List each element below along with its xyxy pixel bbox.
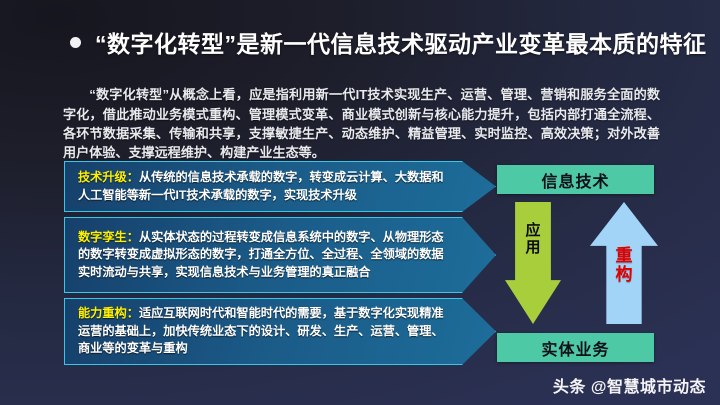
arrow-down-icon: 应用	[505, 202, 561, 324]
chevron-panel-technology-upgrade[interactable]: 技术升级：从传统的信息技术承载的数字，转变成云计算、大数据和人工智能等新一代IT…	[64, 161, 496, 212]
footer-brand-label: 头条	[553, 373, 586, 397]
panel-content: 技术升级：从传统的信息技术承载的数字，转变成云计算、大数据和人工智能等新一代IT…	[65, 164, 495, 209]
slide-title-row: “数字化转型”是新一代信息技术驱动产业变革最本质的特征	[0, 24, 720, 60]
arrow-up-label: 重构	[615, 246, 633, 284]
panel-separator: ：	[127, 230, 139, 244]
panel-separator: ：	[127, 170, 139, 184]
panel-content: 数字孪生：从实体状态的过程转变成信息系统中的数字、从物理形态的数字转变成虚拟形态…	[65, 224, 495, 286]
footer-handle-label: @智慧城市动态	[591, 373, 706, 397]
panel-content: 能力重构：适应互联网时代和智能时代的需要，基于数字化实现精准运营的基础上，加快传…	[65, 300, 495, 362]
panel-key-label: 技术升级	[78, 170, 127, 184]
panel-separator: ：	[127, 306, 139, 320]
intro-paragraph: “数字化转型”从概念上看，应是指利用新一代IT技术实现生产、运营、管理、营销和服…	[63, 85, 660, 163]
arrow-up-icon: 重构	[590, 202, 658, 324]
chevron-panel-capability-reconstruction[interactable]: 能力重构：适应互联网时代和智能时代的需要，基于数字化实现精准运营的基础上，加快传…	[64, 298, 496, 365]
footer-watermark: 头条 @智慧城市动态	[553, 373, 706, 397]
cycle-box-information-technology[interactable]: 信息技术	[497, 165, 654, 194]
slide-canvas: “数字化转型”是新一代信息技术驱动产业变革最本质的特征 “数字化转型”从概念上看…	[0, 0, 720, 405]
page-title: “数字化转型”是新一代信息技术驱动产业变革最本质的特征	[95, 25, 707, 59]
panel-key-label: 数字孪生	[78, 230, 127, 244]
chevron-panel-digital-twin[interactable]: 数字孪生：从实体状态的过程转变成信息系统中的数字、从物理形态的数字转变成虚拟形态…	[64, 217, 496, 293]
panel-key-label: 能力重构	[78, 306, 127, 320]
bullet-dot-icon	[70, 37, 81, 48]
arrow-down-label: 应用	[525, 222, 541, 256]
cycle-box-physical-business[interactable]: 实体业务	[497, 333, 654, 362]
